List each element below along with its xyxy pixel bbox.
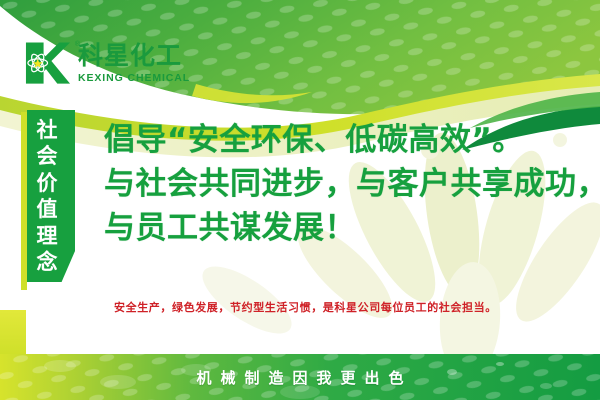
headline-line-2: 与社会共同进步，与客户共享成功， (104, 162, 574, 206)
subline-text: 安全生产，绿色发展，节约型生活习惯，是科星公司每位员工的社会担当。 (114, 299, 497, 315)
footer-bar: 机械制造因我更出色 (0, 354, 600, 400)
registered-trademark-mark: ® (75, 41, 80, 48)
brand-logo: ® 科星化工 KEXING CHEMICAL (24, 40, 190, 86)
side-banner-char: 值 (37, 196, 58, 222)
side-banner-char: 价 (37, 170, 58, 196)
side-banner-char: 理 (37, 223, 58, 249)
side-banner-social-value: 社 会 价 值 理 念 (27, 110, 75, 282)
side-banner-char: 社 (37, 117, 58, 143)
headline-block: 倡导“安全环保、低碳高效”。 与社会共同进步，与客户共享成功， 与员工共谋发展！ (104, 118, 574, 250)
footer-left-accent-tab (0, 310, 26, 354)
brand-wordmark: 科星化工 KEXING CHEMICAL (78, 43, 190, 84)
kexing-k-atom-logo-icon: ® (24, 40, 71, 86)
poster-canvas: ® 科星化工 KEXING CHEMICAL 社 会 价 值 理 念 倡导“安全… (0, 0, 600, 400)
headline-line-1: 倡导“安全环保、低碳高效”。 (104, 118, 574, 162)
headline-line-3: 与员工共谋发展！ (104, 206, 574, 250)
brand-name-en: KEXING CHEMICAL (78, 73, 190, 84)
side-banner-char: 念 (37, 249, 58, 275)
side-banner-char: 会 (37, 143, 58, 169)
footer-slogan: 机械制造因我更出色 (0, 354, 600, 400)
side-banner-label: 社 会 价 值 理 念 (27, 117, 67, 276)
brand-name-cn: 科星化工 (78, 43, 190, 68)
